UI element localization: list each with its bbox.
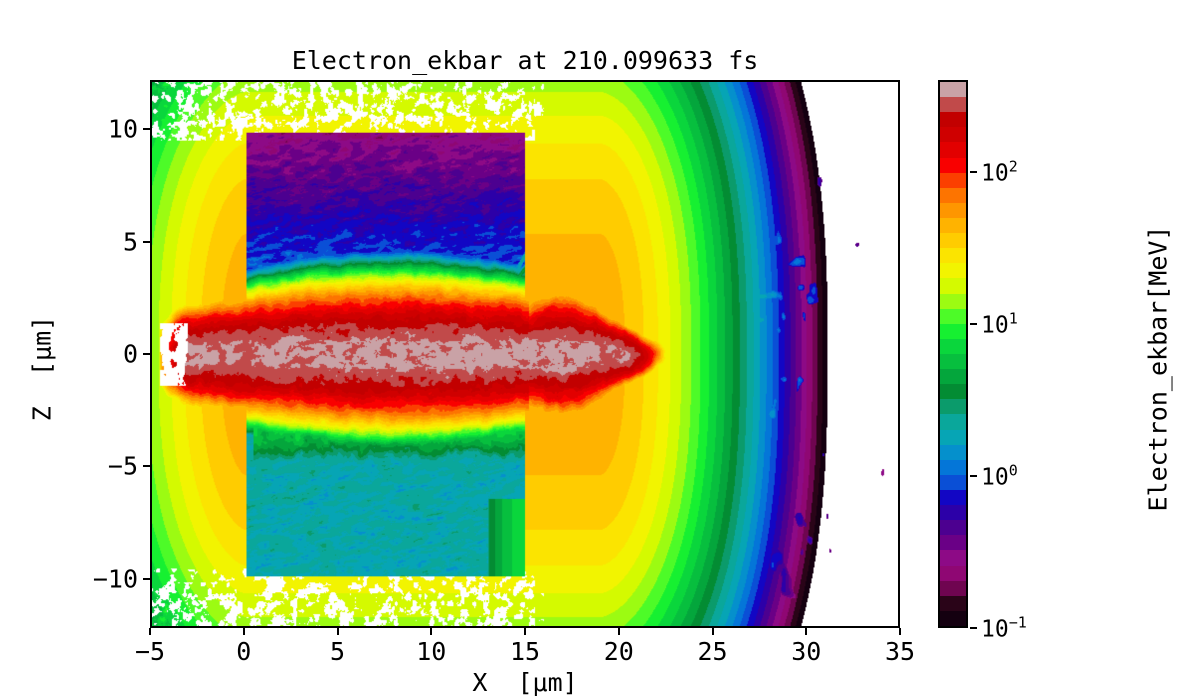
- colorbar-band: [940, 97, 966, 112]
- y-axis-label: Z [μm]: [28, 269, 57, 469]
- colorbar-tick-label: 10−1: [981, 614, 1027, 643]
- colorbar-band: [940, 581, 966, 596]
- colorbar-band: [940, 142, 966, 157]
- plot-axes: [150, 80, 900, 628]
- x-tick-label: 35: [885, 637, 915, 666]
- colorbar-band: [940, 596, 966, 611]
- y-tick-mark: [143, 241, 150, 243]
- figure-canvas: Electron_ekbar at 210.099633 fs −5051015…: [0, 0, 1200, 700]
- colorbar-band: [940, 369, 966, 384]
- colorbar-tick-label: 102: [981, 157, 1018, 186]
- colorbar-band: [940, 263, 966, 278]
- x-axis-label: X [μm]: [150, 668, 900, 697]
- colorbar-band: [940, 414, 966, 429]
- x-tick-label: −5: [135, 637, 165, 666]
- x-tick-label: 30: [791, 637, 821, 666]
- colorbar-band: [940, 611, 966, 626]
- colorbar-band: [940, 535, 966, 550]
- y-tick-label: −5: [0, 452, 138, 481]
- heatmap-canvas: [152, 82, 898, 626]
- x-tick-label: 10: [416, 637, 446, 666]
- colorbar-band: [940, 278, 966, 293]
- colorbar-band: [940, 112, 966, 127]
- colorbar-band: [940, 445, 966, 460]
- y-tick-mark: [143, 353, 150, 355]
- colorbar-band: [940, 566, 966, 581]
- x-tick-mark: [337, 628, 339, 635]
- x-tick-mark: [712, 628, 714, 635]
- colorbar-band: [940, 248, 966, 263]
- colorbar-band: [940, 384, 966, 399]
- heatmap-area: [152, 82, 898, 626]
- colorbar-band: [940, 460, 966, 475]
- colorbar-band: [940, 430, 966, 445]
- x-tick-label: 15: [510, 637, 540, 666]
- colorbar-label: Electron_ekbar[MeV]: [1144, 159, 1173, 579]
- x-tick-label: 20: [604, 637, 634, 666]
- colorbar-band: [940, 550, 966, 565]
- colorbar-tick-label: 100: [981, 462, 1018, 491]
- x-tick-mark: [243, 628, 245, 635]
- y-tick-label: 5: [0, 227, 138, 256]
- colorbar-band: [940, 354, 966, 369]
- colorbar-tick-mark: [970, 475, 977, 477]
- colorbar-band: [940, 399, 966, 414]
- x-tick-label: 0: [236, 637, 251, 666]
- colorbar-band: [940, 475, 966, 490]
- x-tick-label: 25: [697, 637, 727, 666]
- x-tick-mark: [618, 628, 620, 635]
- colorbar-tick-label: 101: [981, 309, 1018, 338]
- colorbar-band: [940, 309, 966, 324]
- colorbar-band: [940, 173, 966, 188]
- colorbar-band: [940, 82, 966, 97]
- colorbar-band: [940, 339, 966, 354]
- colorbar-band: [940, 188, 966, 203]
- y-tick-mark: [143, 465, 150, 467]
- colorbar-band: [940, 490, 966, 505]
- colorbar-band: [940, 203, 966, 218]
- x-tick-mark: [899, 628, 901, 635]
- colorbar-band: [940, 294, 966, 309]
- colorbar-band: [940, 505, 966, 520]
- y-tick-mark: [143, 128, 150, 130]
- colorbar-tick-mark: [970, 171, 977, 173]
- x-tick-mark: [524, 628, 526, 635]
- x-tick-label: 5: [330, 637, 345, 666]
- colorbar-band: [940, 233, 966, 248]
- plot-title: Electron_ekbar at 210.099633 fs: [150, 46, 900, 75]
- colorbar-band: [940, 127, 966, 142]
- colorbar-band: [940, 158, 966, 173]
- colorbar-band: [940, 218, 966, 233]
- colorbar-band: [940, 324, 966, 339]
- colorbar-tick-mark: [970, 323, 977, 325]
- y-tick-mark: [143, 578, 150, 580]
- y-tick-label: −10: [0, 564, 138, 593]
- colorbar: [938, 80, 968, 628]
- y-tick-label: 10: [0, 115, 138, 144]
- colorbar-band: [940, 520, 966, 535]
- colorbar-tick-mark: [970, 627, 977, 629]
- x-tick-mark: [805, 628, 807, 635]
- y-tick-label: 0: [0, 340, 138, 369]
- x-tick-mark: [430, 628, 432, 635]
- x-tick-mark: [149, 628, 151, 635]
